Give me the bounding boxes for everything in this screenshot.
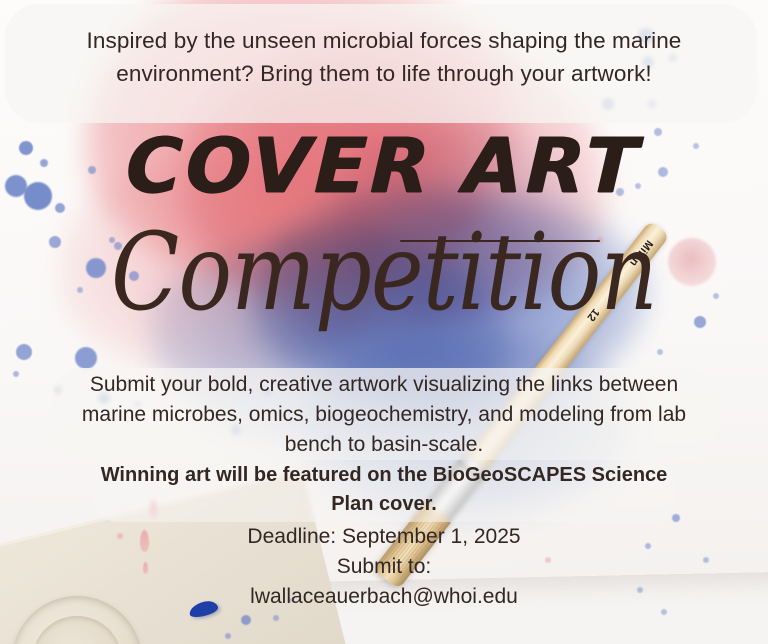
paint-splatter-dot — [13, 371, 19, 377]
intro-text: Inspired by the unseen microbial forces … — [40, 24, 728, 90]
paint-splatter-dot — [75, 347, 97, 369]
script-title-wrap: Competition — [0, 218, 768, 348]
submit-label: Submit to: — [60, 552, 708, 582]
paint-splatter-dot — [225, 633, 231, 639]
contact-email[interactable]: lwallaceauerbach@whoi.edu — [60, 582, 708, 612]
paint-splatter-dot — [657, 349, 663, 355]
body-text: Submit your bold, creative artwork visua… — [58, 370, 710, 460]
paint-splatter-dot — [241, 615, 251, 625]
palette-grit — [60, 636, 62, 638]
poster-canvas: Milan 12 Inspired by the unseen microbia… — [0, 0, 768, 644]
paint-splatter-dot — [672, 514, 680, 522]
page-subtitle: Competition — [12, 209, 757, 337]
paint-splatter-dot — [273, 615, 279, 621]
page-title: COVER ART — [0, 128, 768, 204]
palette-grit — [68, 618, 70, 620]
highlight-text: Winning art will be featured on the BioG… — [96, 461, 672, 519]
deadline-text: Deadline: September 1, 2025 — [60, 522, 708, 552]
